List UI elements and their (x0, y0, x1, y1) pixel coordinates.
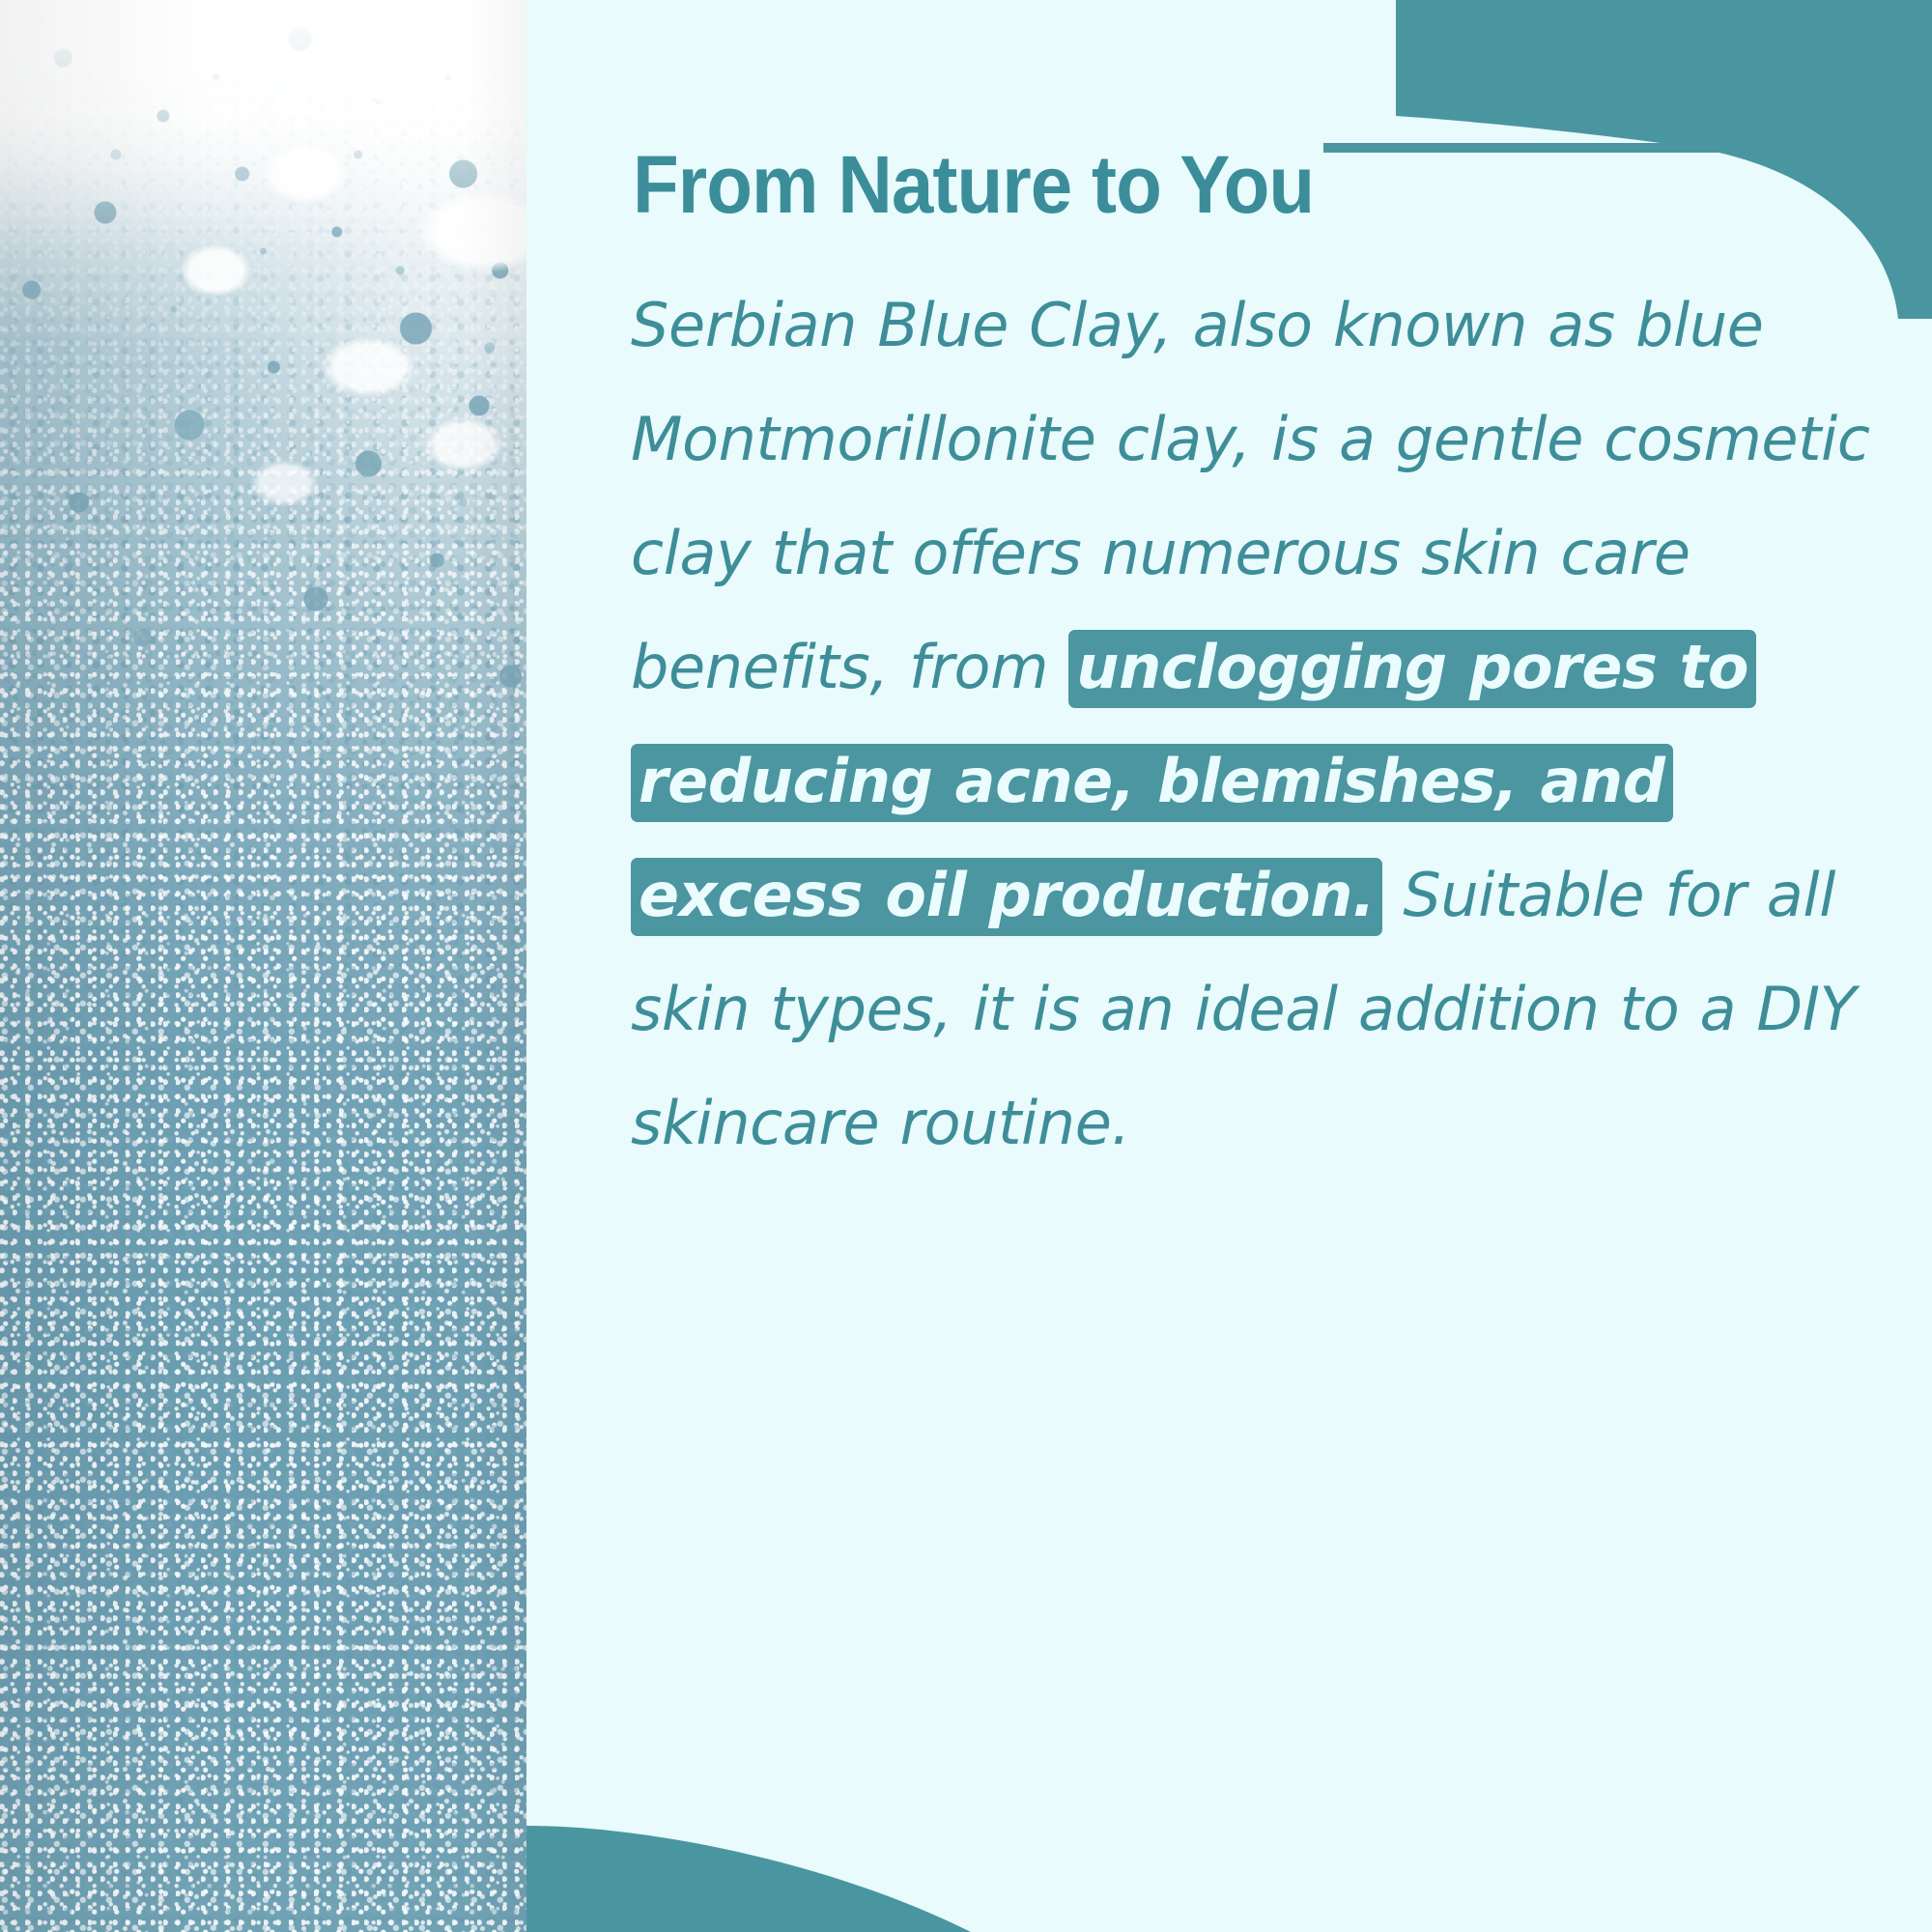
promo-graphic: From Nature to You Serbian Blue Clay, al… (0, 0, 1932, 1932)
clay-edge-shading (0, 0, 526, 1932)
content-panel: From Nature to You Serbian Blue Clay, al… (526, 0, 1932, 1932)
body-copy: Serbian Blue Clay, also known as blue Mo… (631, 269, 1896, 1180)
page-title: From Nature to You (633, 143, 1782, 226)
clay-texture-image (0, 0, 526, 1932)
heading-wrap: From Nature to You (633, 143, 1869, 226)
bottom-left-curve-decoration (526, 1719, 1932, 1932)
